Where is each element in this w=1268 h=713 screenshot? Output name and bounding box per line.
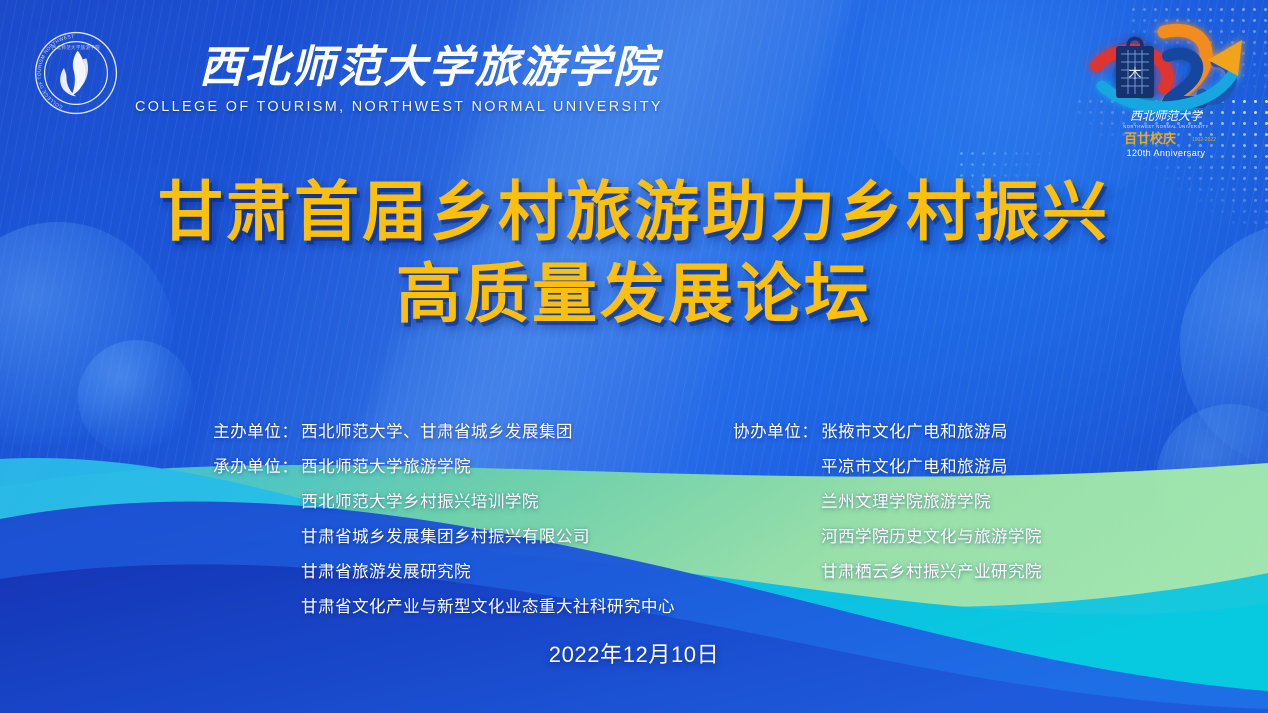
- organizer-row: 甘肃栖云乡村振兴产业研究院: [733, 554, 1042, 589]
- college-logo-lockup: COLLEGE OF TOURISM NORTHWEST NORMAL UNIV…: [33, 30, 663, 116]
- organizer-value: 甘肃栖云乡村振兴产业研究院: [821, 554, 1042, 589]
- organizer-value: 兰州文理学院旅游学院: [821, 484, 991, 519]
- organizer-row: 协办单位： 张掖市文化广电和旅游局: [733, 414, 1042, 449]
- organizer-value: 甘肃省旅游发展研究院: [301, 554, 471, 589]
- organizer-row: 甘肃省城乡发展集团乡村振兴有限公司: [213, 519, 675, 554]
- anniversary-university-en: NORTHWEST NORMAL UNIVERSITY: [1123, 124, 1209, 129]
- conference-banner: COLLEGE OF TOURISM NORTHWEST NORMAL UNIV…: [0, 0, 1268, 713]
- event-title: 甘肃首届乡村旅游助力乡村振兴 高质量发展论坛: [0, 178, 1268, 330]
- svg-text:木: 木: [1128, 67, 1141, 82]
- organizer-row: 平凉市文化广电和旅游局: [733, 449, 1042, 484]
- organizer-row: 河西学院历史文化与旅游学院: [733, 519, 1042, 554]
- organizer-row: 甘肃省旅游发展研究院: [213, 554, 675, 589]
- organizer-credits: 主办单位： 西北师范大学、甘肃省城乡发展集团 承办单位： 西北师范大学旅游学院 …: [0, 414, 1268, 594]
- organizer-column-left: 主办单位： 西北师范大学、甘肃省城乡发展集团 承办单位： 西北师范大学旅游学院 …: [213, 414, 675, 624]
- organizer-value: 平凉市文化广电和旅游局: [821, 449, 1008, 484]
- anniversary-university-cn: 西北师范大学: [1130, 109, 1204, 123]
- institution-name-cn-wordmark: 西北师范大学旅游学院: [135, 34, 663, 96]
- organizer-value: 张掖市文化广电和旅游局: [821, 414, 1008, 449]
- organizer-row: 主办单位： 西北师范大学、甘肃省城乡发展集团: [213, 414, 675, 449]
- organizer-label: 协办单位：: [733, 414, 821, 449]
- institution-name-en: COLLEGE OF TOURISM, NORTHWEST NORMAL UNI…: [135, 99, 663, 115]
- organizer-row: 甘肃省文化产业与新型文化业态重大社科研究中心: [213, 589, 675, 624]
- organizer-row: 兰州文理学院旅游学院: [733, 484, 1042, 519]
- organizer-value: 甘肃省文化产业与新型文化业态重大社科研究中心: [301, 589, 675, 624]
- event-title-line-1: 甘肃首届乡村旅游助力乡村振兴: [0, 178, 1268, 248]
- organizer-value: 西北师范大学旅游学院: [301, 449, 471, 484]
- anniversary-celebration-en: 120th Anniversary: [1127, 148, 1206, 158]
- institution-name-cn-text: 西北师范大学旅游学院: [199, 42, 663, 93]
- college-seal-icon: COLLEGE OF TOURISM NORTHWEST NORMAL UNIV…: [33, 30, 119, 116]
- organizer-row: 西北师范大学乡村振兴培训学院: [213, 484, 675, 519]
- organizer-column-right: 协办单位： 张掖市文化广电和旅游局 平凉市文化广电和旅游局 兰州文理学院旅游学院…: [733, 414, 1042, 589]
- organizer-label: 主办单位：: [213, 414, 301, 449]
- organizer-value: 河西学院历史文化与旅游学院: [821, 519, 1042, 554]
- organizer-value: 甘肃省城乡发展集团乡村振兴有限公司: [301, 519, 590, 554]
- organizer-label: 承办单位：: [213, 449, 301, 484]
- organizer-value: 西北师范大学乡村振兴培训学院: [301, 484, 539, 519]
- anniversary-years: 1902-2022: [1192, 137, 1216, 143]
- event-title-line-2: 高质量发展论坛: [0, 260, 1268, 330]
- organizer-row: 承办单位： 西北师范大学旅游学院: [213, 449, 675, 484]
- svg-text:西北师范大学旅游学院: 西北师范大学旅游学院: [52, 44, 100, 51]
- event-date: 2022年12月10日: [0, 637, 1268, 669]
- anniversary-120-logo-icon: 木 西北师范大学 NORTHWEST NORMAL UNIVERSITY 百廿校…: [1076, 10, 1256, 168]
- organizer-value: 西北师范大学、甘肃省城乡发展集团: [301, 414, 573, 449]
- anniversary-celebration-cn: 百廿校庆: [1124, 131, 1176, 147]
